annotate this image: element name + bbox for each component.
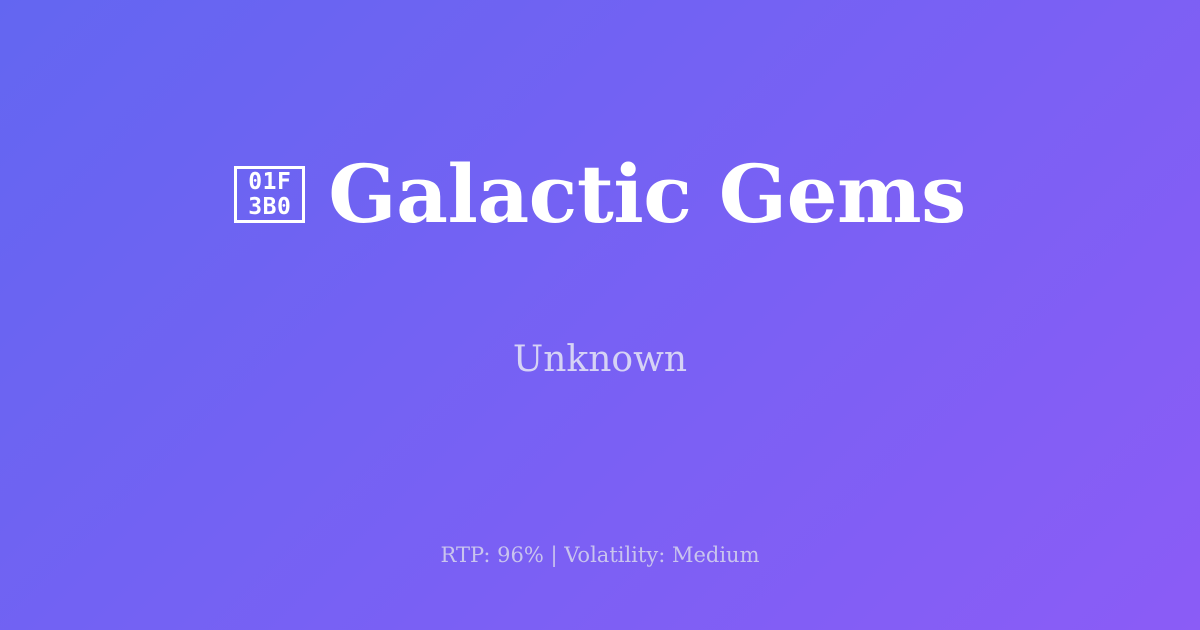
card-subtitle: Unknown: [513, 342, 687, 378]
slot-machine-icon-codepoint-bottom: 3B0: [248, 195, 291, 220]
card-title-row: 01F 3B0 Galactic Gems: [234, 100, 965, 287]
game-preview-card: 01F 3B0 Galactic Gems Unknown RTP: 96% |…: [0, 0, 1200, 630]
card-hero-block: 01F 3B0 Galactic Gems Unknown: [0, 0, 1200, 478]
slot-machine-icon-codepoint-top: 01F: [248, 170, 291, 195]
slot-machine-icon: 01F 3B0: [234, 166, 305, 223]
page-title: Galactic Gems: [328, 154, 965, 234]
card-meta-info: RTP: 96% | Volatility: Medium: [0, 545, 1200, 566]
